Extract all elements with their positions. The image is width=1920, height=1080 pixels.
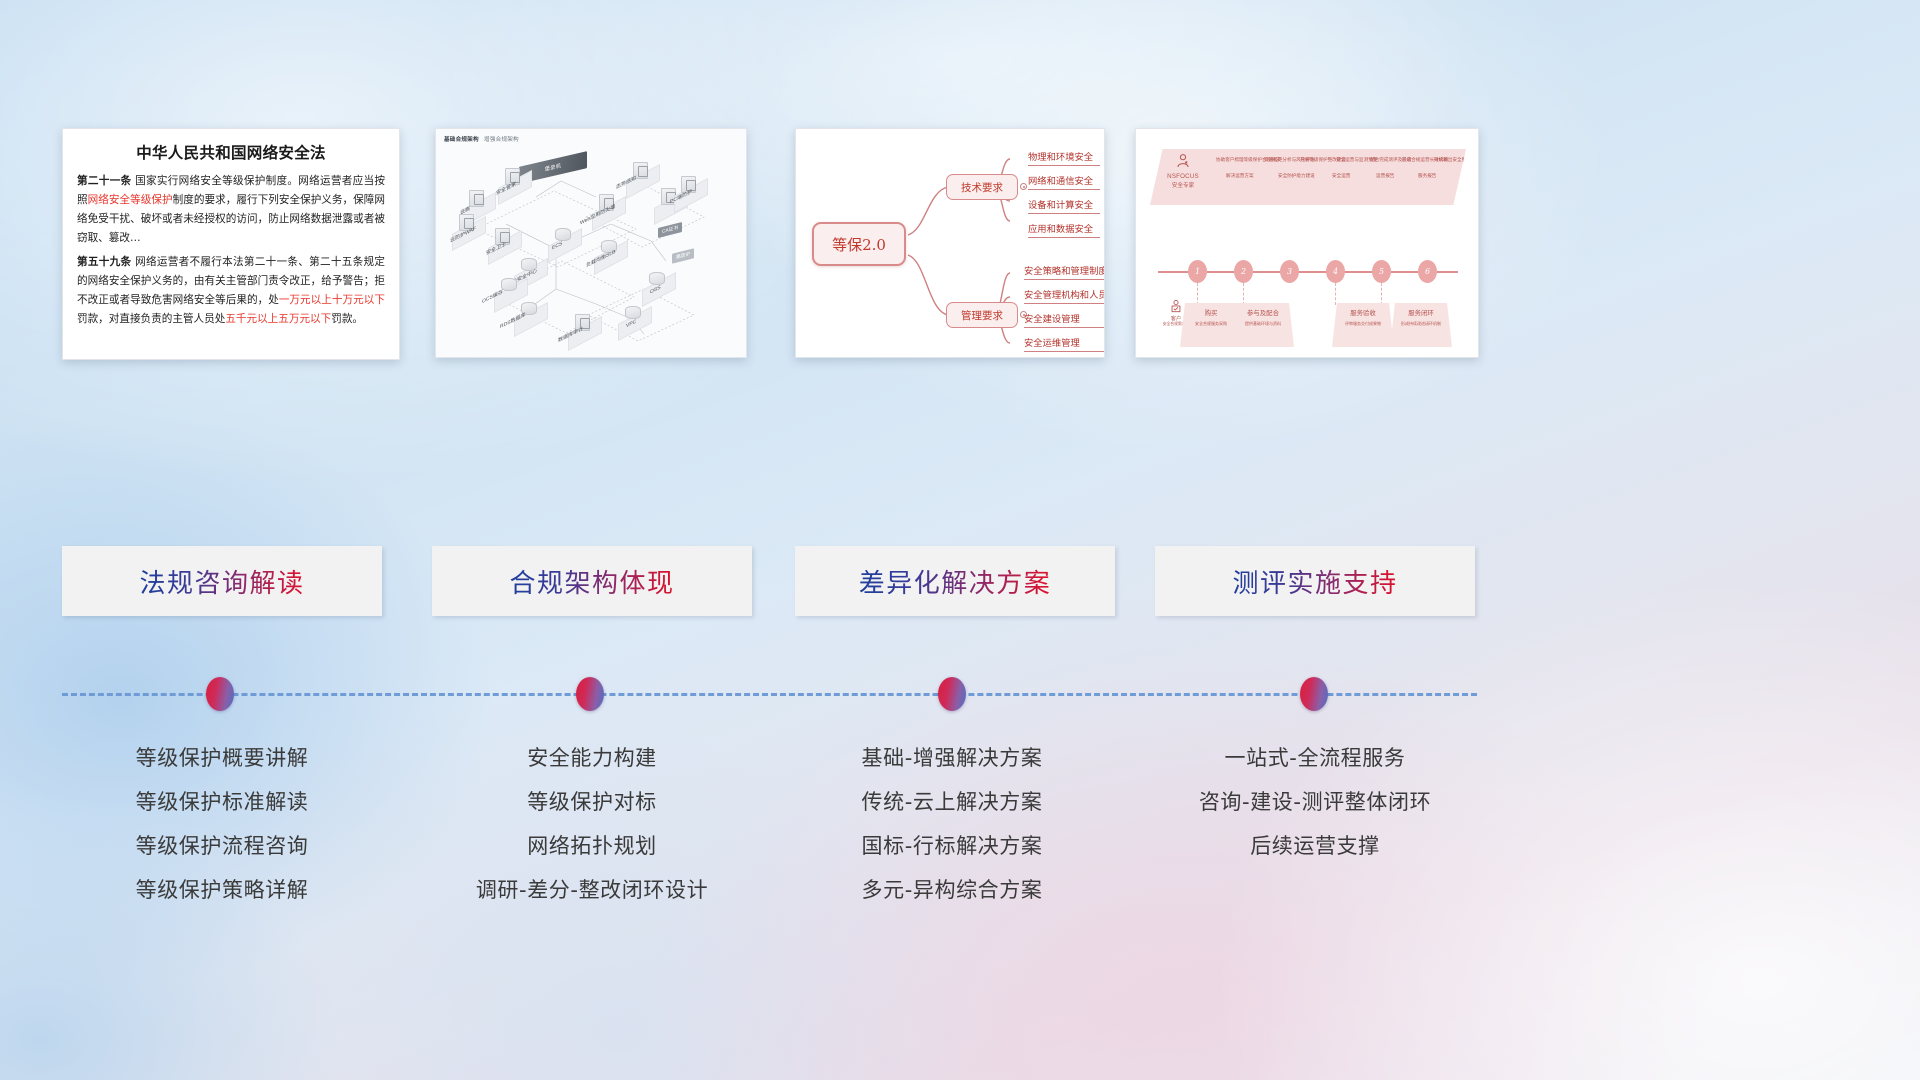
list-item: 基础-增强解决方案 <box>787 748 1117 769</box>
service-flow-diagram: 协助客户梳理等级保护合规要求 实施差距分析与风险评估 开展等级保护整改建设 安全… <box>1136 129 1478 357</box>
banner-seg-4: 安全运营与监测预警 <box>1336 157 1370 164</box>
list-column-4: 一站式-全流程服务 咨询-建设-测评整体闭环 后续运营支撑 <box>1150 748 1480 880</box>
card-cloud-architecture[interactable]: 基础合规架构 增强合规架构 <box>435 128 747 358</box>
mindmap-leaf-device: 设备和计算安全 <box>1028 197 1100 214</box>
node-ocs-cache: OCS缓存 <box>494 287 528 304</box>
bottom-block-4-title: 服务闭环 <box>1390 308 1452 317</box>
slide-stage: 中华人民共和国网络安全法 第二十一条 国家实行网络安全等级保护制度。网络运营者应… <box>0 0 1920 1080</box>
article-59-text-b: 罚款，对直接负责的主管人员处 <box>77 313 225 325</box>
list-item: 等级保护对标 <box>427 792 757 813</box>
list-item: 后续运营支撑 <box>1150 836 1480 857</box>
connector-3 <box>1335 283 1336 305</box>
card-cybersecurity-law[interactable]: 中华人民共和国网络安全法 第二十一条 国家实行网络安全等级保护制度。网络运营者应… <box>62 128 400 360</box>
bottom-block-3: 服务验收 评审服务交付成果物 <box>1332 303 1394 347</box>
node-waf: 云防护WAF <box>452 225 486 242</box>
card-service-flow[interactable]: 协助客户梳理等级保护合规要求 实施差距分析与风险评估 开展等级保护整改建设 安全… <box>1135 128 1479 358</box>
list-item: 咨询-建设-测评整体闭环 <box>1150 792 1480 813</box>
architecture-diagram: 基础合规架构 增强合规架构 <box>436 129 746 357</box>
timeline-dot-1[interactable] <box>206 677 234 711</box>
article-21-label: 第二十一条 <box>77 175 131 187</box>
list-item: 等级保护概要讲解 <box>57 748 387 769</box>
timeline-dot-2[interactable] <box>576 677 604 711</box>
mindmap-leaf-network: 网络和通信安全 <box>1028 173 1100 190</box>
article-59-text-c: 罚款。 <box>331 313 363 325</box>
stage-label-2: 安全防护能力建设 <box>1278 173 1315 179</box>
node-security-butler: 安全管家 <box>498 179 532 196</box>
stage-dot-4[interactable]: 4 <box>1326 260 1345 283</box>
nsfocus-expert-block: NSFOCUS 安全专家 <box>1154 153 1212 190</box>
mindmap-root-node[interactable]: 等保2.0 <box>812 222 906 266</box>
banner-seg-7: 持续输出安全服务与支撑能力 <box>1434 157 1468 164</box>
heading-box-solution[interactable]: 差异化解决方案 <box>795 546 1115 616</box>
bottom-block-3-title: 服务验收 <box>1332 308 1394 317</box>
list-item: 等级保护标准解读 <box>57 792 387 813</box>
law-article-59: 第五十九条 网络运营者不履行本法第二十一条、第二十五条规定的网络安全保护义务的，… <box>77 253 385 328</box>
list-item: 国标-行标解决方案 <box>787 836 1117 857</box>
article-21-highlight: 网络安全等级保护 <box>88 194 173 206</box>
law-article-21: 第二十一条 国家实行网络安全等级保护制度。网络运营者应当按照网络安全等级保护制度… <box>77 172 385 247</box>
list-item: 传统-云上解决方案 <box>787 792 1117 813</box>
node-db-audit: 数据库审计 <box>568 325 602 342</box>
bottom-block-1-sub: 安全合规服务采购 <box>1180 321 1242 327</box>
heading-box-architecture[interactable]: 合规架构体现 <box>432 546 752 616</box>
article-59-highlight-1: 一万元以上十万元以下 <box>279 294 385 306</box>
mindmap-branch-technical[interactable]: 技术要求 <box>946 174 1018 200</box>
stage-label-4: 运营报告 <box>1376 173 1394 179</box>
stage-label-3: 安全运营 <box>1332 173 1350 179</box>
heading-box-regulation[interactable]: 法规咨询解读 <box>62 546 382 616</box>
timeline-dot-4[interactable] <box>1300 677 1328 711</box>
stage-dot-3[interactable]: 3 <box>1280 260 1299 283</box>
stage-dot-2[interactable]: 2 <box>1234 260 1253 283</box>
mindmap-leaf-physical: 物理和环境安全 <box>1028 149 1100 166</box>
bottom-block-4: 服务闭环 形成持续改进闭环机制 <box>1390 303 1452 347</box>
node-rds: RDS数据库 <box>514 311 548 328</box>
mindmap-leaf-org: 安全管理机构和人员 <box>1024 287 1104 304</box>
heading-box-assessment[interactable]: 测评实施支持 <box>1155 546 1475 616</box>
banner-seg-5: 配合完成测评及验收 <box>1370 157 1404 164</box>
bottom-block-2-sub: 提供基础环境与资料 <box>1232 321 1294 327</box>
banner-seg-1: 协助客户梳理等级保护合规要求 <box>1216 157 1262 164</box>
node-ecs: ECS <box>548 237 582 254</box>
mindmap: 等保2.0 技术要求 物理和环境安全 网络和通信安全 设备和计算安全 应用和数据… <box>796 129 1104 357</box>
stage-label-1: 解决运营方案 <box>1226 173 1254 179</box>
banner-seg-6: 形成合规运营长效机制 <box>1402 157 1436 164</box>
expert-brand: NSFOCUS <box>1154 173 1212 182</box>
expert-person-icon <box>1175 153 1191 169</box>
stage-label-5: 服务报告 <box>1418 173 1436 179</box>
list-column-1: 等级保护概要讲解 等级保护标准解读 等级保护流程咨询 等级保护策略详解 <box>57 748 387 924</box>
stage-dot-6[interactable]: 6 <box>1418 260 1437 283</box>
node-security-guard: 安全卫士 <box>488 239 522 256</box>
article-59-highlight-2: 五千元以上五万元以下 <box>225 313 331 325</box>
list-item: 安全能力构建 <box>427 748 757 769</box>
mindmap-leaf-operation: 安全运维管理 <box>1024 335 1104 352</box>
expert-role: 安全专家 <box>1154 182 1212 190</box>
list-item: 等级保护流程咨询 <box>57 836 387 857</box>
list-column-3: 基础-增强解决方案 传统-云上解决方案 国标-行标解决方案 多元-异构综合方案 <box>787 748 1117 924</box>
bottom-block-1-title: 购买 <box>1180 308 1242 317</box>
node-situational-awareness: 态势感知 <box>626 173 660 190</box>
node-vpc: VPC <box>618 315 652 332</box>
stage-dot-1[interactable]: 1 <box>1188 260 1207 283</box>
mindmap-leaf-application: 应用和数据安全 <box>1028 221 1100 238</box>
law-title: 中华人民共和国网络安全法 <box>77 141 385 163</box>
list-column-2: 安全能力构建 等级保护对标 网络拓扑规划 调研-差分-整改闭环设计 <box>427 748 757 924</box>
node-web-firewall: Web应用防火墙 <box>592 205 626 222</box>
customer-person-icon <box>1169 299 1183 313</box>
bottom-block-1: 购买 安全合规服务采购 <box>1180 303 1242 347</box>
connector-4 <box>1381 283 1382 305</box>
bottom-block-2-title: 参与及配合 <box>1232 308 1294 317</box>
connector-2 <box>1243 283 1244 305</box>
heading-label-4: 测评实施支持 <box>1232 563 1397 600</box>
bottom-block-2: 参与及配合 提供基础环境与资料 <box>1232 303 1294 347</box>
banner-seg-2: 实施差距分析与风险评估 <box>1264 157 1300 164</box>
banner-seg-3: 开展等级保护整改建设 <box>1300 157 1336 164</box>
heading-label-1: 法规咨询解读 <box>139 563 304 600</box>
node-slb: 负载均衡SLB <box>594 249 628 266</box>
article-59-label: 第五十九条 <box>77 256 131 268</box>
node-pc-protection: PC端防护 <box>674 187 708 204</box>
bottom-block-4-sub: 形成持续改进闭环机制 <box>1390 321 1452 327</box>
list-item: 等级保护策略详解 <box>57 880 387 901</box>
mindmap-leaf-policy: 安全策略和管理制度 <box>1024 263 1104 280</box>
timeline-dot-3[interactable] <box>938 677 966 711</box>
heading-label-3: 差异化解决方案 <box>859 563 1052 600</box>
timeline-dashed-line <box>62 693 1477 696</box>
card-mindmap-dengbao[interactable]: 等保2.0 技术要求 物理和环境安全 网络和通信安全 设备和计算安全 应用和数据… <box>795 128 1105 358</box>
mindmap-collapse-icon-technical[interactable] <box>1020 183 1027 190</box>
heading-label-2: 合规架构体现 <box>509 563 674 600</box>
list-item: 一站式-全流程服务 <box>1150 748 1480 769</box>
list-item: 多元-异构综合方案 <box>787 880 1117 901</box>
node-oss: OSS <box>642 281 676 298</box>
list-item: 调研-差分-整改闭环设计 <box>427 880 757 901</box>
mindmap-leaf-construction: 安全建设管理 <box>1024 311 1104 328</box>
bottom-block-3-sub: 评审服务交付成果物 <box>1332 321 1394 327</box>
mindmap-branch-management[interactable]: 管理要求 <box>946 302 1018 328</box>
list-item: 网络拓扑规划 <box>427 836 757 857</box>
stage-dot-5[interactable]: 5 <box>1372 260 1391 283</box>
